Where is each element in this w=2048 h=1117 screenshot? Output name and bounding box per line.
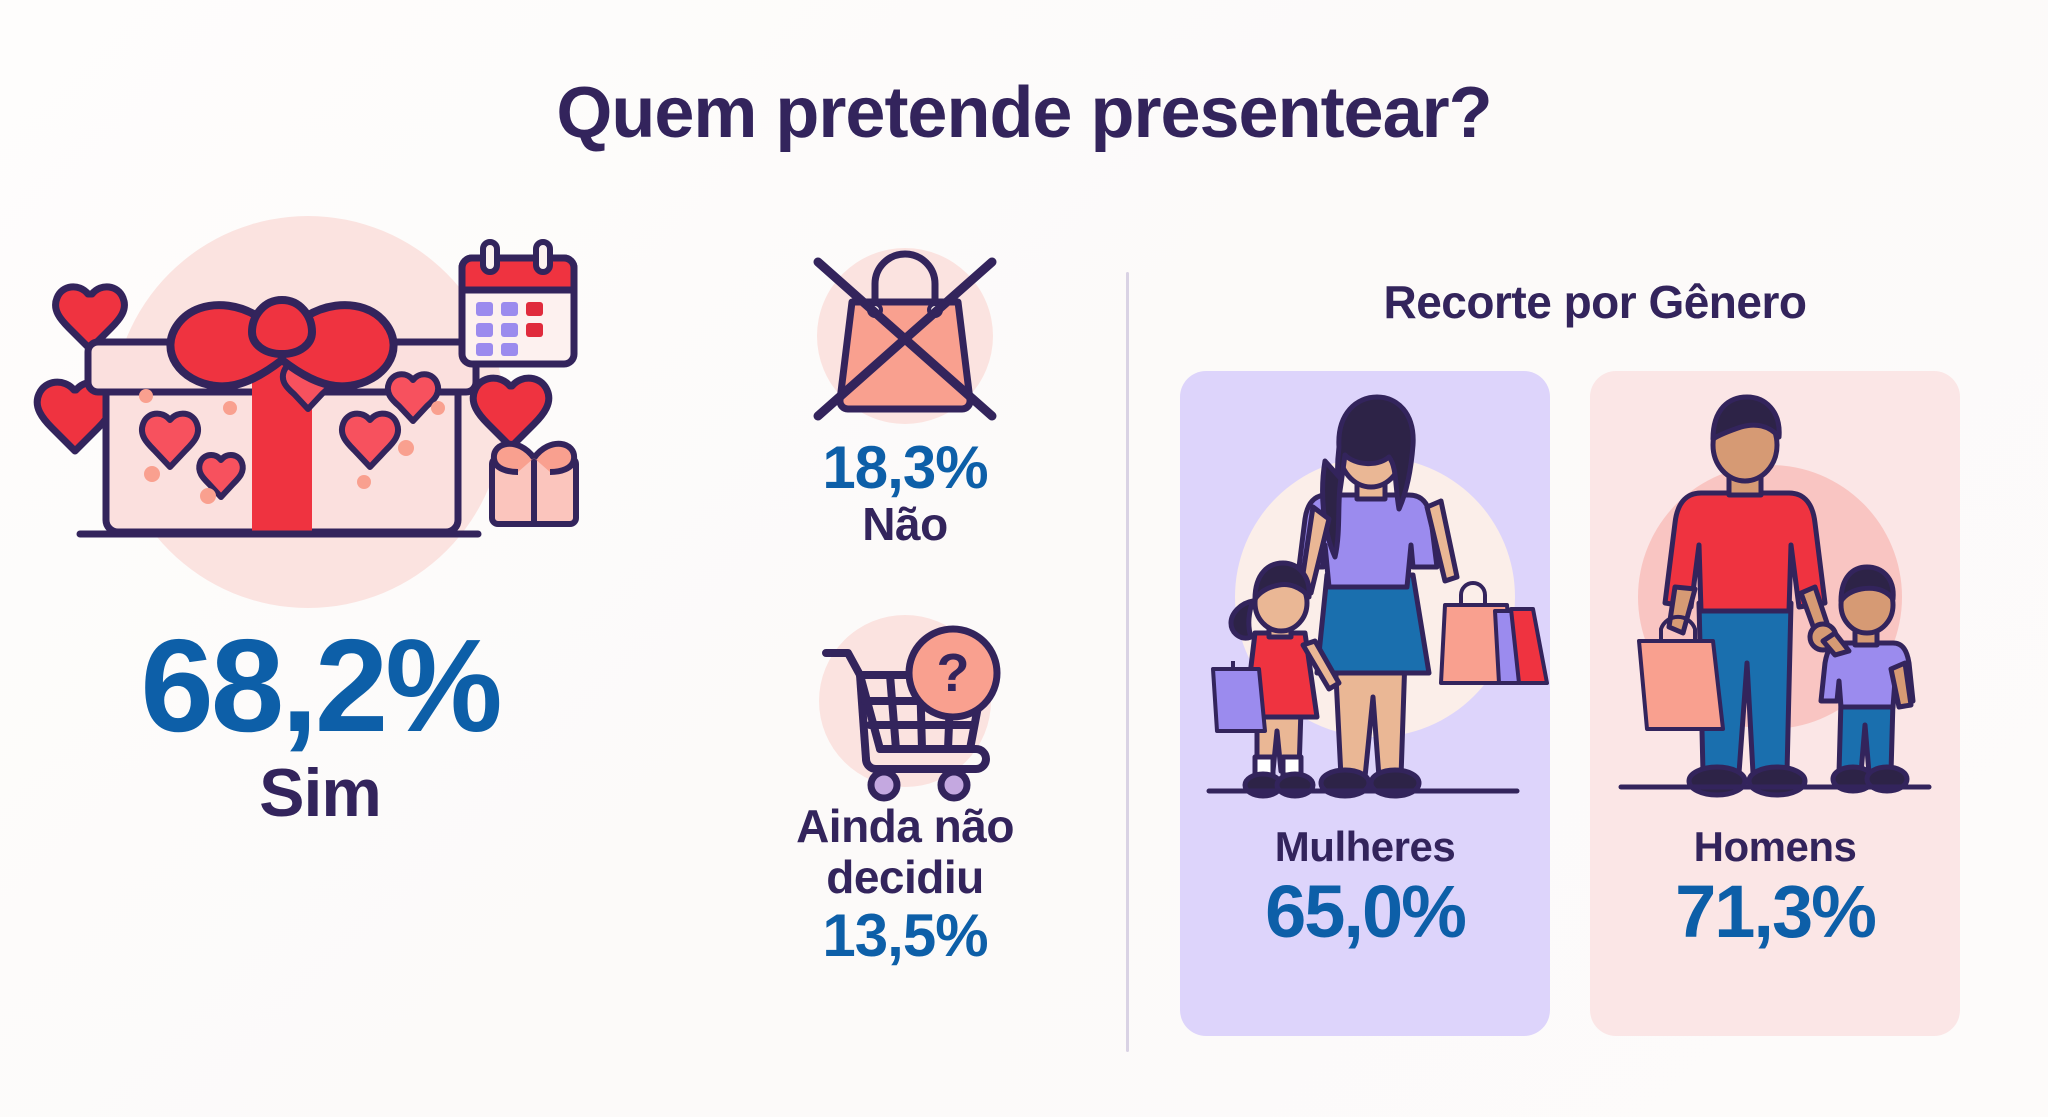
secondary-percent-indeciso: 13,5% [740, 904, 1070, 967]
secondary-label-indeciso-line1: Ainda não [740, 801, 1070, 853]
vertical-divider [1126, 272, 1129, 1052]
secondary-label-indeciso-line2: decidiu [740, 852, 1070, 904]
crossed-out-shopping-bag-icon [740, 240, 1070, 436]
page-title: Quem pretende presentear? [0, 72, 2048, 154]
gender-card-percent-homens: 71,3% [1675, 873, 1875, 951]
gender-card-mulheres[interactable]: Mulheres 65,0% [1180, 371, 1550, 1036]
secondary-stat-indeciso: ? Ainda não decidiu 13,5% [740, 605, 1070, 967]
gift-box-with-hearts-icon [40, 190, 600, 610]
man-and-boy-shopping-illustration [1605, 387, 1945, 817]
primary-stat-block: 68,2% Sim [40, 190, 600, 1020]
primary-label: Sim [40, 758, 600, 829]
gender-card-homens[interactable]: Homens 71,3% [1590, 371, 1960, 1036]
gender-panel-title: Recorte por Gênero [1180, 275, 2010, 329]
gender-panel: Recorte por Gênero [1180, 275, 2010, 1036]
secondary-percent-nao: 18,3% [740, 436, 1070, 499]
secondary-label-nao: Não [740, 499, 1070, 551]
gender-cards: Mulheres 65,0% [1180, 371, 2010, 1036]
primary-percent: 68,2% [40, 620, 600, 752]
secondary-stat-nao: 18,3% Não [740, 240, 1070, 551]
primary-stat-text: 68,2% Sim [40, 620, 600, 829]
infographic-canvas: Quem pretende presentear? [0, 0, 2048, 1117]
gender-card-label-mulheres: Mulheres [1275, 823, 1455, 871]
shopping-cart-question-icon: ? [740, 605, 1070, 801]
woman-and-girl-shopping-illustration [1195, 387, 1535, 817]
gender-card-percent-mulheres: 65,0% [1265, 873, 1465, 951]
secondary-stats-block: 18,3% Não [740, 240, 1070, 967]
gender-card-label-homens: Homens [1694, 823, 1857, 871]
svg-text:?: ? [937, 643, 970, 703]
